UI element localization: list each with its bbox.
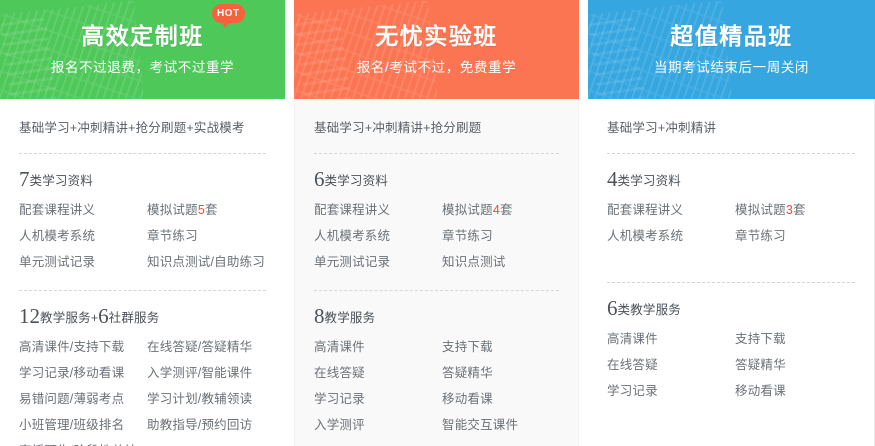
spacer	[605, 249, 857, 267]
list-item[interactable]: 学习计划/教辅领读	[145, 386, 268, 412]
list-item-unit: 套	[500, 203, 513, 217]
plan-card-worryfree-experiment[interactable]: 无忧实验班 报名/考试不过，免费重学 基础学习+冲刺精讲+抢分刷题 6类学习资料…	[294, 0, 579, 446]
services-list: 高清课件/支持下载 在线答疑/答疑精华 学习记录/移动看课 入学测评/智能课件 …	[17, 334, 268, 446]
section-count: 4	[607, 167, 618, 191]
section-count-2: 6	[98, 304, 109, 328]
list-item[interactable]: 学习记录	[605, 378, 733, 404]
list-item[interactable]: 支持下载	[733, 326, 857, 352]
list-item[interactable]: 高清课件/支持下载	[17, 334, 145, 360]
plan-title: 无忧实验班	[375, 21, 498, 51]
list-item[interactable]: 小班管理/班级排名	[17, 412, 145, 438]
section-divider	[607, 153, 855, 154]
list-item-label: 模拟试题	[147, 203, 198, 217]
list-item[interactable]: 直播预告/阶段性总结	[17, 438, 145, 446]
list-item[interactable]: 章节练习	[440, 223, 561, 249]
list-item[interactable]: 配套课程讲义	[605, 197, 733, 223]
plan-title-wrap: 超值精品班	[670, 21, 793, 51]
section-label: 类教学服务	[618, 303, 682, 317]
list-item[interactable]: 智能交互课件	[440, 412, 561, 438]
list-item[interactable]: 移动看课	[733, 378, 857, 404]
plan-body-value-premium: 基础学习+冲刺精讲 4类学习资料 配套课程讲义 模拟试题3套 人机模考系统 章节…	[588, 99, 875, 446]
plan-header-value-premium: 超值精品班 当期考试结束后一周关闭	[588, 0, 875, 99]
plan-subtitle: 当期考试结束后一周关闭	[654, 58, 809, 78]
list-item[interactable]: 答疑精华	[733, 352, 857, 378]
plan-subtitle: 报名/考试不过，免费重学	[357, 58, 516, 78]
list-item-count: 5	[198, 203, 205, 217]
section-title-services: 12教学服务+6社群服务	[17, 304, 268, 330]
section-divider	[607, 282, 855, 283]
list-item[interactable]: 配套课程讲义	[312, 197, 440, 223]
plan-body-efficient-custom: 基础学习+冲刺精讲+抢分刷题+实战模考 7类学习资料 配套课程讲义 模拟试题5套…	[0, 99, 285, 446]
plan-card-value-premium[interactable]: 超值精品班 当期考试结束后一周关闭 基础学习+冲刺精讲 4类学习资料 配套课程讲…	[588, 0, 875, 446]
list-item[interactable]: 入学测评/智能课件	[145, 360, 268, 386]
plan-body-worryfree-experiment: 基础学习+冲刺精讲+抢分刷题 6类学习资料 配套课程讲义 模拟试题4套 人机模考…	[294, 99, 579, 446]
section-count: 7	[19, 167, 30, 191]
section-label: 类学习资料	[30, 174, 94, 188]
section-title-services: 8教学服务	[312, 304, 561, 330]
plan-title: 超值精品班	[670, 21, 793, 51]
list-item[interactable]: 人机模考系统	[605, 223, 733, 249]
plan-subtitle: 报名不过退费，考试不过重学	[51, 58, 234, 78]
plan-header-efficient-custom: 高效定制班 HOT 报名不过退费，考试不过重学	[0, 0, 285, 99]
services-list: 高清课件 支持下载 在线答疑 答疑精华 学习记录 移动看课 入学测评 智能交互课…	[312, 334, 561, 438]
list-item[interactable]: 答疑精华	[440, 360, 561, 386]
plan-lead: 基础学习+冲刺精讲+抢分刷题+实战模考	[17, 118, 268, 138]
list-item[interactable]: 模拟试题5套	[145, 197, 268, 223]
section-divider	[314, 153, 559, 154]
materials-list: 配套课程讲义 模拟试题5套 人机模考系统 章节练习 单元测试记录 知识点测试/自…	[17, 197, 268, 275]
list-item[interactable]: 配套课程讲义	[17, 197, 145, 223]
list-item[interactable]: 学习记录	[312, 386, 440, 412]
list-item[interactable]: 章节练习	[145, 223, 268, 249]
services-list: 高清课件 支持下载 在线答疑 答疑精华 学习记录 移动看课	[605, 326, 857, 404]
section-title-materials: 6类学习资料	[312, 167, 561, 193]
list-item[interactable]: 高清课件	[312, 334, 440, 360]
list-item[interactable]: 移动看课	[440, 386, 561, 412]
section-label: 教学服务	[325, 311, 376, 325]
course-plan-comparison: 高效定制班 HOT 报名不过退费，考试不过重学 基础学习+冲刺精讲+抢分刷题+实…	[0, 0, 875, 446]
list-item[interactable]: 单元测试记录	[312, 249, 440, 275]
plan-card-efficient-custom[interactable]: 高效定制班 HOT 报名不过退费，考试不过重学 基础学习+冲刺精讲+抢分刷题+实…	[0, 0, 285, 446]
list-item-unit: 套	[205, 203, 218, 217]
list-item-unit: 套	[793, 203, 806, 217]
plan-header-worryfree-experiment: 无忧实验班 报名/考试不过，免费重学	[294, 0, 579, 99]
list-item[interactable]: 在线答疑/答疑精华	[145, 334, 268, 360]
plan-title-wrap: 高效定制班 HOT	[81, 21, 204, 51]
list-item[interactable]: 支持下载	[440, 334, 561, 360]
list-item[interactable]: 人机模考系统	[312, 223, 440, 249]
list-item-count: 4	[493, 203, 500, 217]
list-item[interactable]: 助教指导/预约回访	[145, 412, 268, 438]
list-item[interactable]: 章节练习	[733, 223, 857, 249]
column-gap	[579, 0, 588, 446]
list-item[interactable]: 单元测试记录	[17, 249, 145, 275]
materials-list: 配套课程讲义 模拟试题3套 人机模考系统 章节练习	[605, 197, 857, 249]
list-item-count: 3	[786, 203, 793, 217]
materials-list: 配套课程讲义 模拟试题4套 人机模考系统 章节练习 单元测试记录 知识点测试	[312, 197, 561, 275]
plan-lead: 基础学习+冲刺精讲+抢分刷题	[312, 118, 561, 138]
list-item-label: 模拟试题	[442, 203, 493, 217]
list-item-label: 模拟试题	[735, 203, 786, 217]
list-item[interactable]: 高清课件	[605, 326, 733, 352]
list-item[interactable]: 易错问题/薄弱考点	[17, 386, 145, 412]
section-title-materials: 4类学习资料	[605, 167, 857, 193]
section-label: 教学服务	[40, 311, 91, 325]
column-gap	[285, 0, 294, 446]
list-item[interactable]: 在线答疑	[605, 352, 733, 378]
plan-title: 高效定制班	[81, 21, 204, 51]
section-divider	[314, 290, 559, 291]
section-title-services: 6类教学服务	[605, 296, 857, 322]
section-count: 8	[314, 304, 325, 328]
hot-badge: HOT	[212, 4, 245, 23]
section-divider	[19, 153, 266, 154]
list-item[interactable]: 人机模考系统	[17, 223, 145, 249]
list-item[interactable]: 学习记录/移动看课	[17, 360, 145, 386]
list-item[interactable]: 模拟试题3套	[733, 197, 857, 223]
list-item[interactable]: 知识点测试	[440, 249, 561, 275]
section-count: 6	[314, 167, 325, 191]
section-count: 6	[607, 296, 618, 320]
section-label: 类学习资料	[325, 174, 389, 188]
list-item[interactable]: 知识点测试/自助练习	[145, 249, 268, 275]
section-title-materials: 7类学习资料	[17, 167, 268, 193]
section-divider	[19, 290, 266, 291]
list-item[interactable]: 模拟试题4套	[440, 197, 561, 223]
plan-title-wrap: 无忧实验班	[375, 21, 498, 51]
list-item[interactable]: 在线答疑	[312, 360, 440, 386]
section-label: 类学习资料	[618, 174, 682, 188]
list-item[interactable]: 入学测评	[312, 412, 440, 438]
section-count: 12	[19, 304, 40, 328]
plan-lead: 基础学习+冲刺精讲	[605, 118, 857, 138]
section-label-2: 社群服务	[109, 311, 160, 325]
